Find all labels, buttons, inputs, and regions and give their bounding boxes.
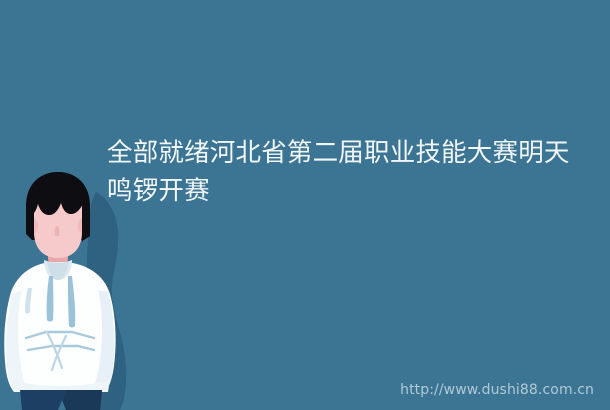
nose xyxy=(55,226,60,236)
headline-text: 全部就绪河北省第二届职业技能大赛明天鸣锣开赛 xyxy=(107,134,585,210)
pants-shade xyxy=(63,390,102,410)
source-url-watermark: http://www.dushi88.com.cn xyxy=(400,382,594,398)
poster-canvas: 全部就绪河北省第二届职业技能大赛明天鸣锣开赛 http://www.dushi8… xyxy=(0,0,610,410)
